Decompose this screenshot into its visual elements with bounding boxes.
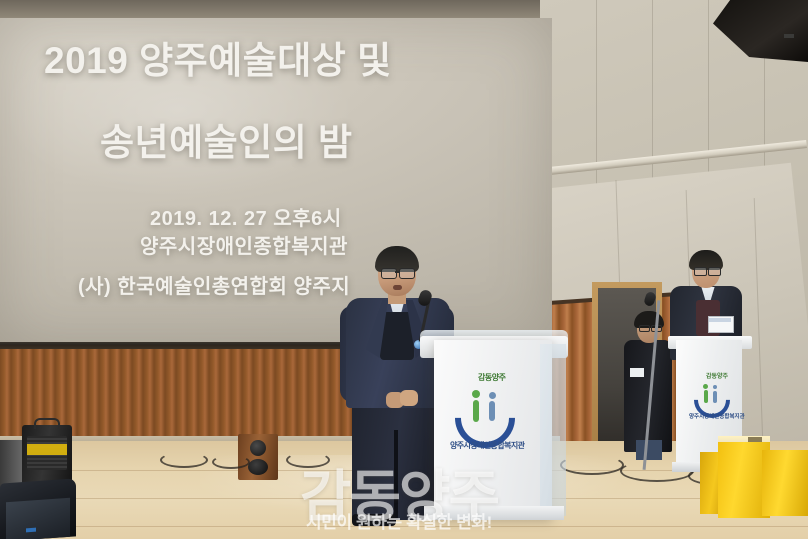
- podium-logo-head-green: [472, 390, 480, 398]
- podium-logo-body-blue: [489, 401, 495, 421]
- background-person-glasses-left: [639, 325, 650, 332]
- podium-brand-label: 감동양주: [478, 372, 505, 383]
- main-speaker-glasses-bridge: [395, 271, 399, 273]
- gift-box: [762, 450, 808, 516]
- photo-scene: 2019 양주예술대상 및 송년예술인의 밤 2019. 12. 27 오후6시…: [0, 0, 808, 539]
- podium-logo-body-green: [473, 400, 479, 422]
- main-speaker-mouth: [393, 285, 402, 290]
- right-speaker-name-badge-strip: [709, 318, 731, 322]
- slide-datetime: 2019. 12. 27 오후6시: [150, 202, 342, 231]
- main-speaker-glasses-left: [381, 268, 397, 279]
- right-podium-logo-body-blue: [713, 391, 717, 403]
- right-speaker-glasses-left: [694, 267, 707, 276]
- main-speaker-glasses-right: [399, 268, 415, 279]
- right-podium-logo-head-green: [703, 384, 708, 389]
- podium-logo-head-blue: [489, 392, 496, 399]
- floor-cable: [560, 455, 624, 475]
- watermark-tagline: 시민이 원하는 확실한 변화!: [306, 508, 492, 533]
- right-podium-caption: 양주시장애인종합복지관: [689, 412, 745, 420]
- ceiling-speaker-led: [784, 34, 794, 38]
- slide-venue: 양주시장애인종합복지관: [140, 230, 348, 259]
- pa-speaker-handle: [34, 418, 60, 429]
- watermark-area: 감동양주 시민이 원하는 확실한 변화!: [0, 446, 560, 539]
- right-podium-logo-body-green: [704, 390, 708, 403]
- slide-title-line-2: 송년예술인의 밤: [100, 112, 353, 166]
- main-speaker-right-hand: [400, 390, 418, 406]
- right-speaker-glasses-right: [708, 267, 721, 276]
- right-podium-logo-head-blue: [713, 385, 717, 389]
- right-podium-brand: 감동양주: [706, 371, 728, 380]
- slide-title-line-1: 2019 양주예술대상 및: [44, 30, 392, 84]
- background-person-badge: [630, 368, 644, 377]
- slide-organizer: (사) 한국예술인총연합회 양주지: [78, 270, 350, 299]
- background-person-legs: [636, 440, 662, 460]
